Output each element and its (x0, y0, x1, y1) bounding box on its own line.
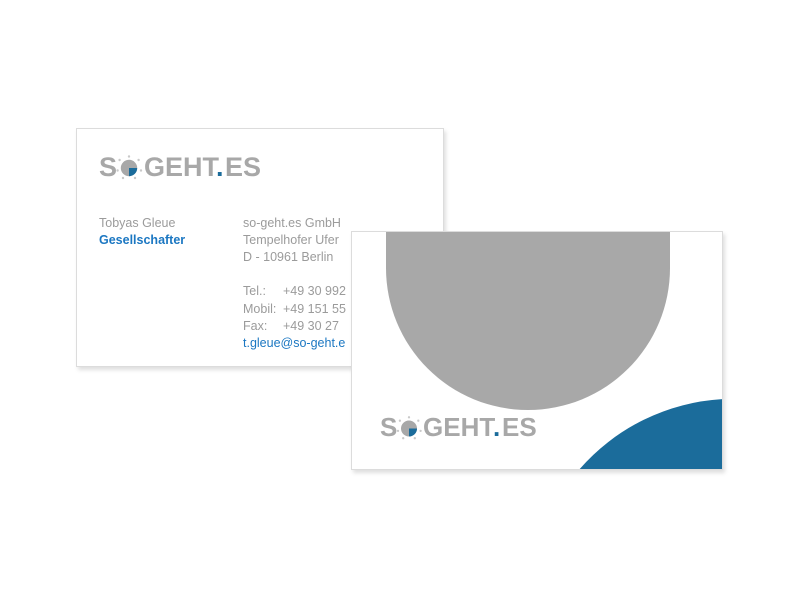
orb-icon-back (397, 416, 422, 439)
wordmark-geht-text-back: GEHT (423, 412, 495, 442)
contact-role: Gesellschafter (99, 232, 243, 249)
contact-name: Tobyas Gleue (99, 215, 243, 232)
phone-label-fax: Fax: (243, 318, 283, 335)
phone-label-tel: Tel.: (243, 283, 283, 300)
wordmark-es-text: ES (225, 152, 261, 182)
phone-label-mobil: Mobil: (243, 301, 283, 318)
scene-canvas: S GEHT . ES (0, 0, 800, 600)
phone-value-tel: +49 30 992 (283, 283, 346, 300)
wordmark-dot-text: . (216, 152, 224, 182)
wordmark-s-text-back: S (380, 412, 397, 442)
company-name: so-geht.es GmbH (243, 215, 435, 232)
wordmark-es-text-back: ES (502, 412, 537, 442)
wordmark-s-text: S (99, 152, 117, 182)
logo-lockup-back: S GEHT . ES (380, 412, 545, 445)
wordmark-geht-text: GEHT (144, 152, 220, 182)
logo-lockup: S GEHT . ES (99, 151, 269, 185)
phone-value-fax: +49 30 27 (283, 318, 339, 335)
person-column: Tobyas Gleue Gesellschafter (99, 215, 243, 352)
phone-value-mobil: +49 151 55 (283, 301, 346, 318)
business-card-back[interactable]: S GEHT . ES (351, 231, 723, 470)
orb-icon (116, 155, 142, 179)
wordmark-dot-text-back: . (493, 412, 500, 442)
